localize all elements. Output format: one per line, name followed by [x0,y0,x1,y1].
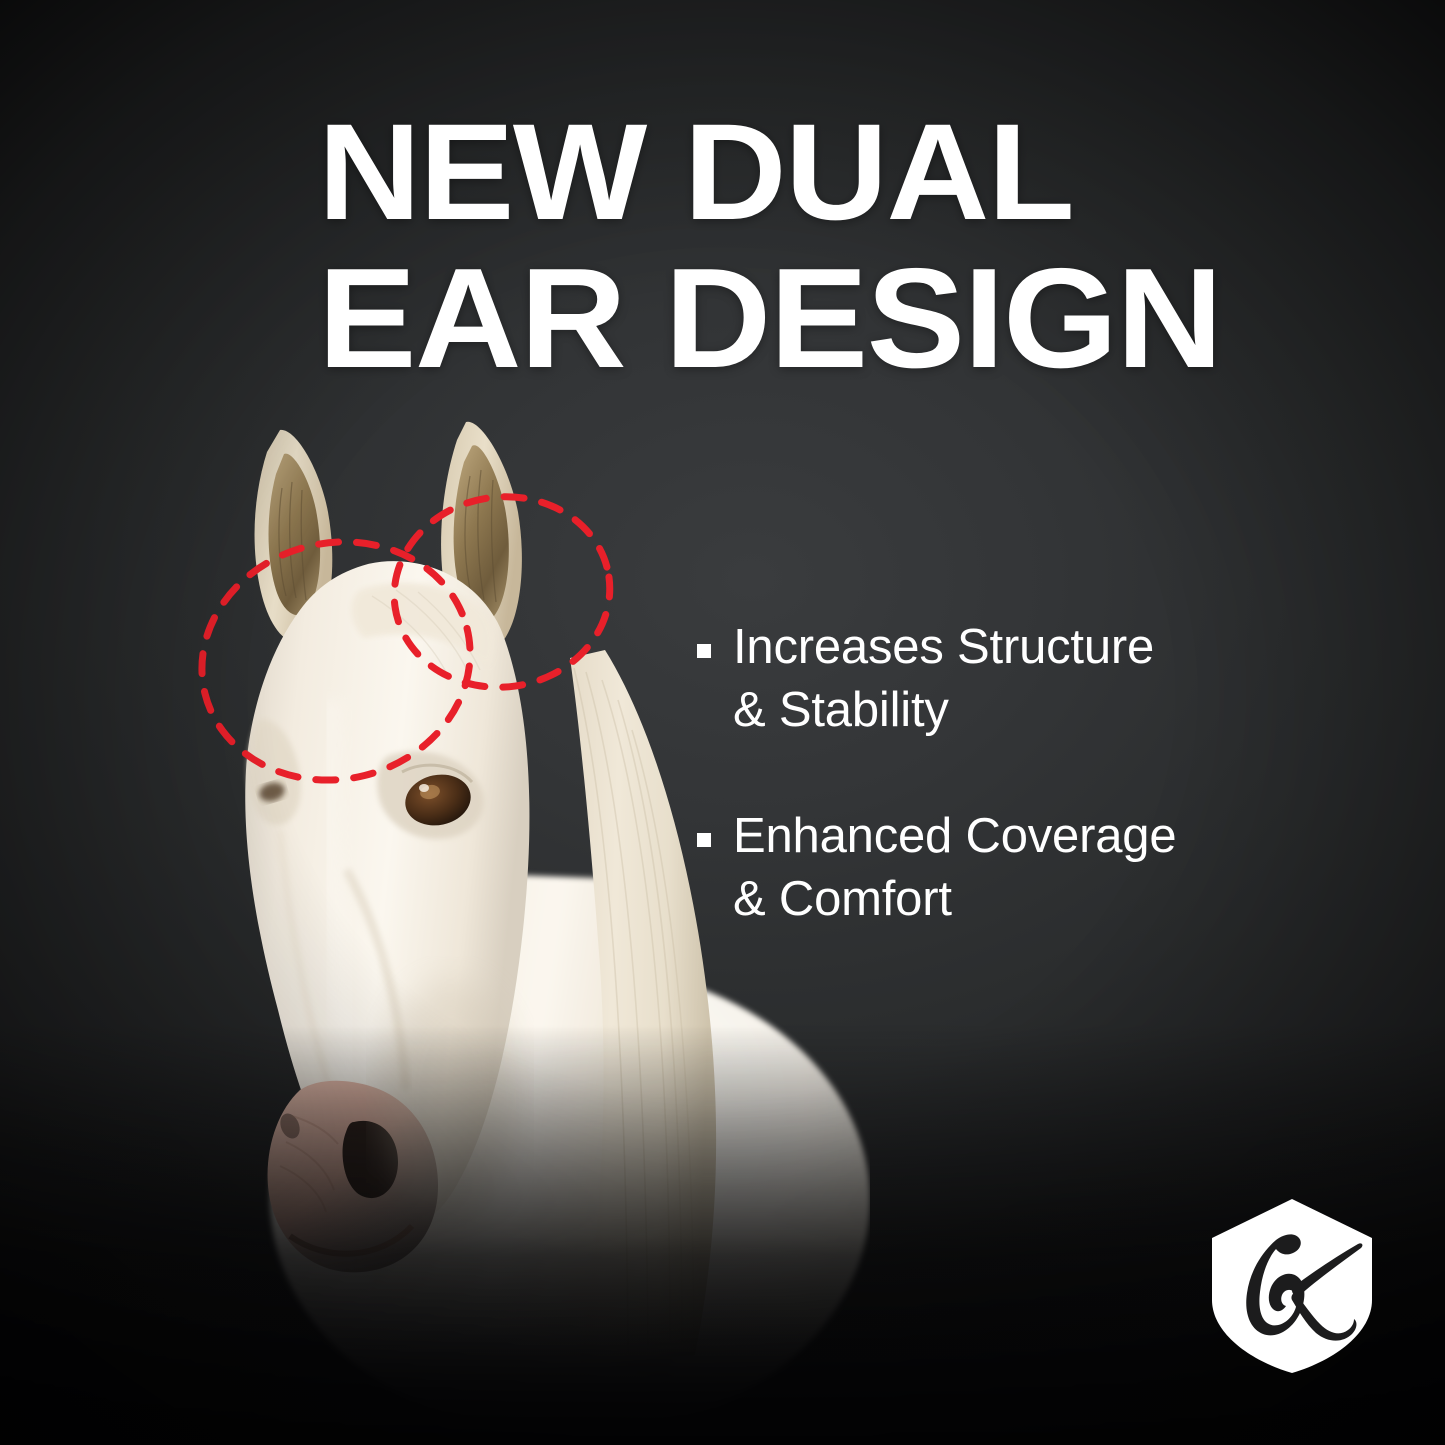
headline-line-1: NEW DUAL [318,108,1233,238]
promo-graphic-canvas: NEW DUAL EAR DESIGN Increases Structure … [0,0,1445,1445]
feature-text-line-2: & Stability [733,683,949,737]
page-title: NEW DUAL EAR DESIGN [318,108,1198,387]
feature-text-line-1: Enhanced Coverage [733,809,1176,863]
square-bullet-icon [697,833,711,847]
list-item: Increases Structure & Stability [697,616,1357,741]
feature-text: Enhanced Coverage & Comfort [733,805,1176,930]
feature-text: Increases Structure & Stability [733,616,1154,741]
headline-line-2: EAR DESIGN [318,252,1233,387]
kavallerie-shield-logo-icon [1206,1196,1378,1376]
square-bullet-icon [697,644,711,658]
feature-text-line-2: & Comfort [733,872,952,926]
list-item: Enhanced Coverage & Comfort [697,805,1357,930]
feature-text-line-1: Increases Structure [733,620,1154,674]
feature-list: Increases Structure & Stability Enhanced… [697,616,1357,995]
